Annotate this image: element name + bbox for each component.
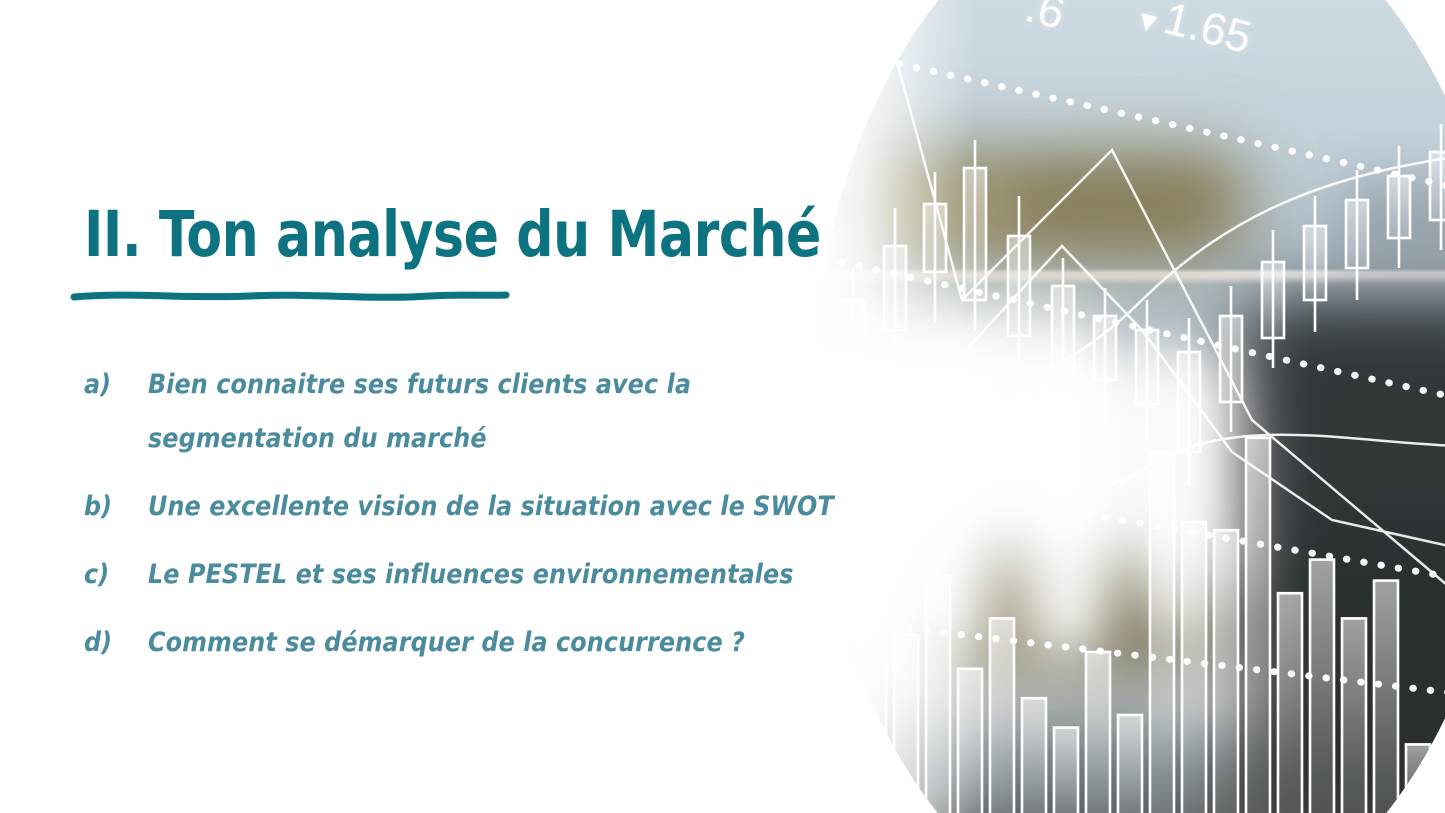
list-item-marker: c) [84,548,148,602]
list-item-marker: a) [84,358,148,412]
list-item: b) Une excellente vision de la situation… [84,480,884,534]
page-title: II. Ton analyse du Marché [84,200,821,270]
list-item-label: Une excellente vision de la situation av… [148,480,878,534]
stock-chart-overlay [812,0,1445,813]
list-item-label: Bien connaitre ses futurs clients avec l… [148,358,718,466]
decorative-photo: .6 ▼ 1.65 [812,0,1445,813]
title-underline [70,282,510,308]
bullet-list: a) Bien connaitre ses futurs clients ave… [84,358,884,684]
photo-background: .6 ▼ 1.65 [812,0,1445,813]
list-item-label: Comment se démarquer de la concurrence ? [148,616,878,670]
list-item: a) Bien connaitre ses futurs clients ave… [84,358,884,466]
list-item-label: Le PESTEL et ses influences environnemen… [148,548,878,602]
slide-canvas: .6 ▼ 1.65 II. Ton analyse du Marché a) B… [0,0,1445,813]
list-item: d) Comment se démarquer de la concurrenc… [84,616,884,670]
list-item-marker: b) [84,480,148,534]
list-item: c) Le PESTEL et ses influences environne… [84,548,884,602]
slide-content: II. Ton analyse du Marché a) Bien connai… [0,0,900,813]
list-item-marker: d) [84,616,148,670]
